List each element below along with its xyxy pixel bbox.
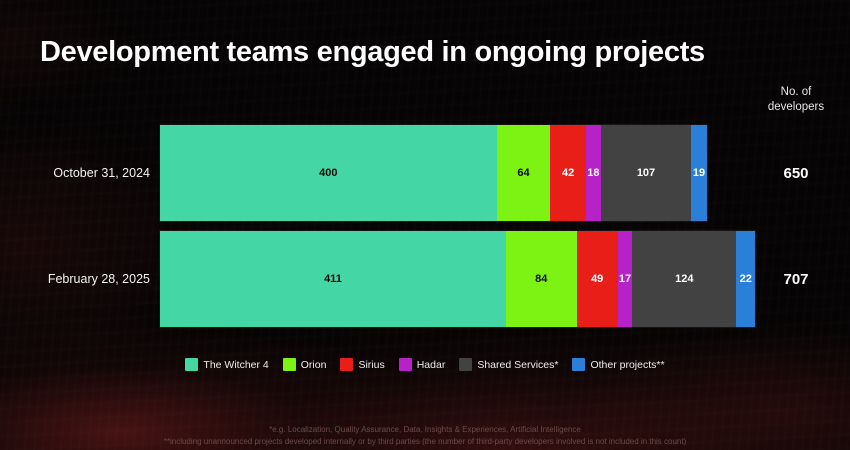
- bar-segment[interactable]: 49: [577, 231, 618, 327]
- bar-segment[interactable]: 400: [160, 125, 497, 221]
- bar-segment-value: 49: [591, 274, 603, 285]
- legend-swatch-icon: [283, 358, 296, 371]
- legend-swatch-icon: [185, 358, 198, 371]
- row-total-value: 707: [742, 231, 850, 327]
- row-category-label: February 28, 2025: [10, 231, 150, 327]
- bar-segment-value: 411: [324, 274, 342, 285]
- legend-item[interactable]: The Witcher 4: [185, 358, 268, 371]
- bar-segment-value: 107: [637, 168, 655, 179]
- legend-label: Sirius: [358, 359, 384, 371]
- bar-segment[interactable]: 18: [586, 125, 601, 221]
- legend-item[interactable]: Orion: [283, 358, 327, 371]
- stacked-bar: 40064421810719: [160, 125, 707, 221]
- row-category-label: October 31, 2024: [10, 125, 150, 221]
- legend-item[interactable]: Hadar: [399, 358, 446, 371]
- bar-segment[interactable]: 42: [550, 125, 585, 221]
- developers-column-header-line2: developers: [742, 100, 850, 115]
- bar-segment-value: 84: [535, 274, 547, 285]
- bar-segment-value: 64: [517, 168, 529, 179]
- stacked-bar-chart: October 31, 202440064421810719650Februar…: [0, 118, 850, 338]
- bar-segment[interactable]: 84: [506, 231, 577, 327]
- chart-row: February 28, 202541184491712422707: [0, 231, 850, 327]
- chart-row: October 31, 202440064421810719650: [0, 125, 850, 221]
- bar-segment-value: 17: [619, 274, 631, 285]
- footnote-line: *e.g. Localization, Quality Assurance, D…: [0, 424, 850, 436]
- bar-segment[interactable]: 64: [497, 125, 551, 221]
- slide-canvas: Development teams engaged in ongoing pro…: [0, 0, 850, 450]
- page-title: Development teams engaged in ongoing pro…: [40, 36, 705, 69]
- bar-segment[interactable]: 19: [691, 125, 707, 221]
- row-total-value: 650: [742, 125, 850, 221]
- chart-legend: The Witcher 4OrionSiriusHadarShared Serv…: [0, 358, 850, 371]
- bar-segment[interactable]: 107: [601, 125, 691, 221]
- developers-column-header-line1: No. of: [742, 85, 850, 100]
- legend-label: Hadar: [417, 359, 446, 371]
- legend-swatch-icon: [340, 358, 353, 371]
- legend-swatch-icon: [399, 358, 412, 371]
- bar-segment-value: 19: [693, 168, 705, 179]
- legend-label: Shared Services*: [477, 359, 558, 371]
- bar-segment-value: 42: [562, 168, 574, 179]
- bar-segment[interactable]: 17: [618, 231, 632, 327]
- developers-column-header: No. of developers: [742, 85, 850, 115]
- legend-item[interactable]: Sirius: [340, 358, 384, 371]
- legend-label: The Witcher 4: [203, 359, 268, 371]
- legend-item[interactable]: Shared Services*: [459, 358, 558, 371]
- legend-label: Other projects**: [590, 359, 664, 371]
- stacked-bar: 41184491712422: [160, 231, 755, 327]
- legend-label: Orion: [301, 359, 327, 371]
- bar-segment[interactable]: 411: [160, 231, 506, 327]
- footnote-line: **including unannounced projects develop…: [0, 436, 850, 448]
- bar-segment[interactable]: 124: [632, 231, 736, 327]
- bar-segment-value: 18: [587, 168, 599, 179]
- bar-segment-value: 124: [675, 274, 693, 285]
- legend-item[interactable]: Other projects**: [572, 358, 664, 371]
- bar-segment-value: 400: [319, 168, 337, 179]
- legend-swatch-icon: [459, 358, 472, 371]
- legend-swatch-icon: [572, 358, 585, 371]
- footnotes: *e.g. Localization, Quality Assurance, D…: [0, 424, 850, 447]
